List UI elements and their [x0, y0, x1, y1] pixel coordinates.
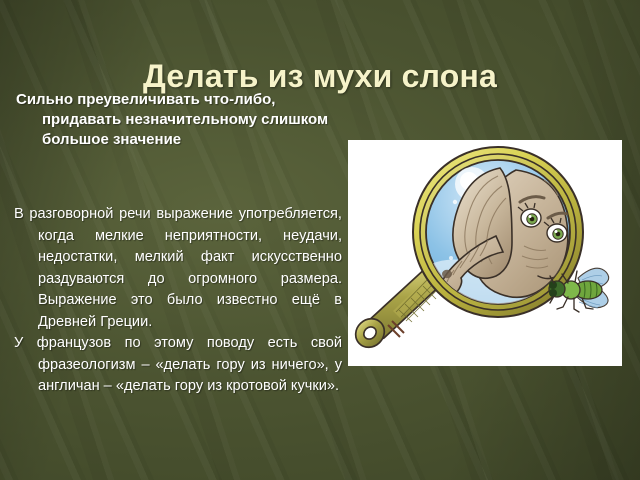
body-paragraph-2: У французов по этому поводу есть свой фр…	[14, 333, 342, 398]
body-paragraph-1: В разговорной речи выражение употребляет…	[14, 204, 342, 333]
elephant-trunk-tip	[442, 270, 452, 278]
magnifying-glass-illustration	[348, 140, 622, 366]
presentation-slide: Делать из мухи слона Сильно преувеличива…	[0, 0, 640, 480]
body-text-block: В разговорной речи выражение употребляет…	[14, 204, 342, 398]
subtitle-text: Сильно преувеличивать что-либо, придават…	[16, 90, 338, 150]
subtitle-block: Сильно преувеличивать что-либо, придават…	[16, 90, 338, 150]
illustration-panel	[348, 140, 622, 366]
